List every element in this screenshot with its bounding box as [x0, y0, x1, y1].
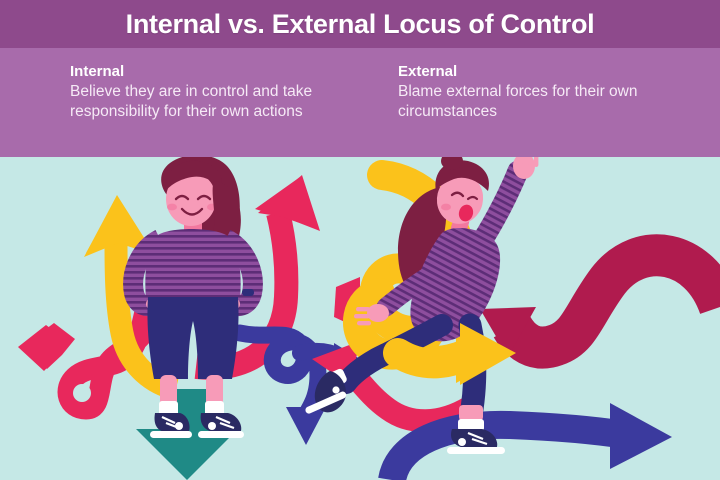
column-internal-body: Believe they are in control and take res… — [70, 82, 360, 122]
column-external: External Blame external forces for their… — [398, 62, 688, 122]
column-internal-heading: Internal — [70, 62, 360, 81]
shoe-left — [155, 413, 190, 433]
infographic-root: Internal vs. External Locus of Control I… — [0, 0, 720, 480]
column-external-heading: External — [398, 62, 688, 81]
page-title: Internal vs. External Locus of Control — [126, 9, 595, 40]
illustration-svg — [0, 157, 720, 480]
title-bar: Internal vs. External Locus of Control — [0, 0, 720, 48]
subtitle-band: Internal Believe they are in control and… — [0, 48, 720, 157]
column-internal: Internal Believe they are in control and… — [70, 62, 360, 122]
illustration-scene — [0, 157, 720, 480]
column-external-body: Blame external forces for their own circ… — [398, 82, 688, 122]
